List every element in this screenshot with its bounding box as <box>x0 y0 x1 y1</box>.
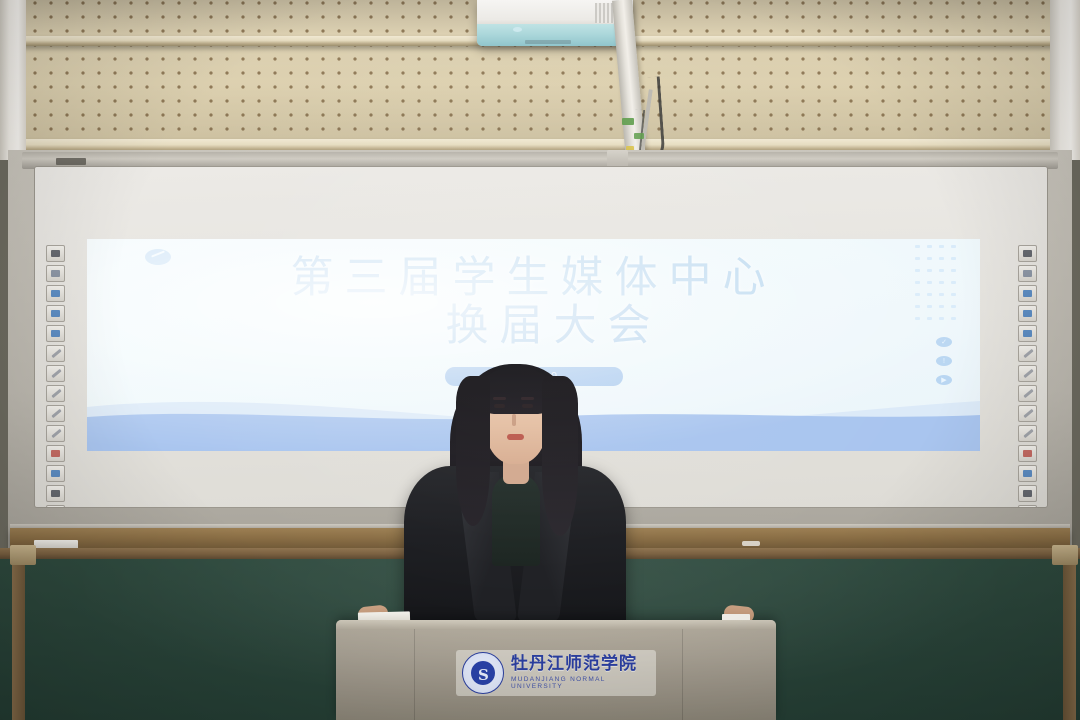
toolbar-icon-person-r[interactable] <box>1018 505 1037 508</box>
whiteboard-toolbar-right[interactable] <box>1016 245 1038 508</box>
board-brand-tag <box>56 158 86 165</box>
hair-side-left <box>456 376 490 526</box>
toolbar-icon-brush-r[interactable] <box>1018 425 1037 442</box>
wall-pillar-right <box>1050 0 1080 160</box>
eyebrow-right <box>521 397 534 400</box>
toolbar-icon-screen-r[interactable] <box>1018 245 1037 262</box>
lectern-podium: S 牡丹江师范学院 MUDANJIANG NORMAL UNIVERSITY <box>336 620 776 720</box>
toolbar-icon-brush[interactable] <box>46 425 65 442</box>
podium-seam-left <box>414 629 415 720</box>
eye-right <box>522 404 533 408</box>
toolbar-icon-screen[interactable] <box>46 245 65 262</box>
podium-seam-right <box>682 629 683 720</box>
toolbar-icon-cursor-r[interactable] <box>1018 265 1037 282</box>
toolbar-icon-person[interactable] <box>46 505 65 508</box>
chalkboard-corner-left <box>10 545 36 565</box>
toolbar-icon-pen-blue-r[interactable] <box>1018 285 1037 302</box>
crest-letter: S <box>478 666 489 684</box>
slide-title-line-2: 换届大会 <box>87 301 980 352</box>
toolbar-icon-eraser-r[interactable] <box>1018 465 1037 482</box>
toolbar-icon-eraser[interactable] <box>46 465 65 482</box>
slide-title-line-1: 第三届学生媒体中心 <box>87 253 980 304</box>
toolbar-icon-pen-teal[interactable] <box>46 405 65 422</box>
university-crest-icon: S <box>462 652 504 694</box>
toolbar-icon-highlighter-blue[interactable] <box>46 325 65 342</box>
info-circle-icon: ! <box>936 356 952 366</box>
hair-side-right <box>542 376 578 536</box>
toolbar-icon-pen-crimson[interactable] <box>46 445 65 462</box>
nose <box>512 414 516 426</box>
toolbar-icon-highlighter-blue-r[interactable] <box>1018 325 1037 342</box>
toolbar-icon-pen-red[interactable] <box>46 365 65 382</box>
eyebrow-left <box>493 397 506 400</box>
ceiling-projector <box>477 0 633 46</box>
projector-lens-icon <box>513 27 522 32</box>
toolbar-icon-pencil[interactable] <box>46 345 65 362</box>
wall-pillar-left <box>0 0 26 160</box>
university-logo-text-group: 牡丹江师范学院 MUDANJIANG NORMAL UNIVERSITY <box>511 656 650 690</box>
chalkboard-frame-left <box>12 548 25 720</box>
university-name-cn: 牡丹江师范学院 <box>511 656 650 673</box>
toolbar-icon-pen-crimson-r[interactable] <box>1018 445 1037 462</box>
toolbar-icon-pen-r[interactable] <box>1018 385 1037 402</box>
projector-label <box>525 40 571 44</box>
eye-left <box>494 404 505 408</box>
toolbar-icon-monitor-r[interactable] <box>1018 485 1037 502</box>
chalk-stick[interactable] <box>742 541 760 546</box>
mouth <box>507 434 524 440</box>
green-cable-tag <box>622 118 634 125</box>
speaker-person <box>404 362 626 652</box>
classroom-scene: ✓ ! ▶ 第三届学生媒体中心 换届大会 09 29 <box>0 0 1080 720</box>
toolbar-icon-pencil-r[interactable] <box>1018 345 1037 362</box>
whiteboard-toolbar-left[interactable] <box>44 245 66 508</box>
podium-top-edge <box>336 620 776 629</box>
university-logo-plate: S 牡丹江师范学院 MUDANJIANG NORMAL UNIVERSITY <box>456 650 656 696</box>
toolbar-icon-marker-blue-r[interactable] <box>1018 305 1037 322</box>
toolbar-icon-stylus-r[interactable] <box>1018 365 1037 382</box>
chalkboard-corner-right <box>1052 545 1078 565</box>
university-name-en: MUDANJIANG NORMAL UNIVERSITY <box>511 677 650 690</box>
toolbar-icon-marker-blue[interactable] <box>46 305 65 322</box>
toolbar-icon-monitor[interactable] <box>46 485 65 502</box>
toolbar-icon-stylus[interactable] <box>46 385 65 402</box>
toolbar-icon-pen-teal-r[interactable] <box>1018 405 1037 422</box>
toolbar-icon-pen-blue[interactable] <box>46 285 65 302</box>
green-cable-tag-2 <box>634 133 644 139</box>
inner-top <box>492 474 540 566</box>
toolbar-icon-cursor[interactable] <box>46 265 65 282</box>
chalkboard-frame-right <box>1063 548 1076 720</box>
